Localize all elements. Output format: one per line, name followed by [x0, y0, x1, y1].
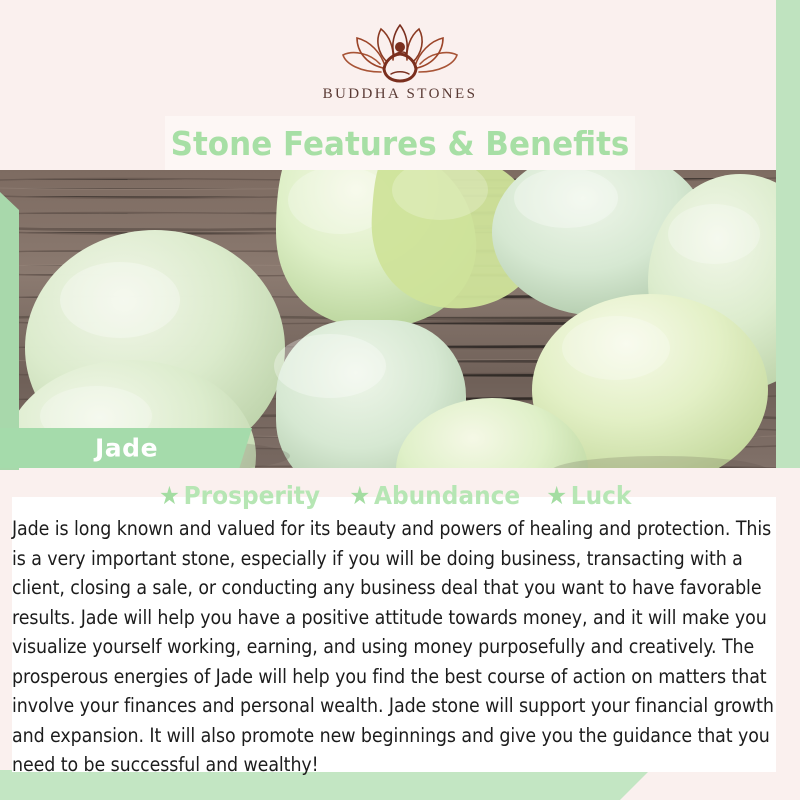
jade-stones-photo [0, 170, 776, 472]
brand-header: BUDDHA STONES [0, 0, 800, 122]
brand-name: BUDDHA STONES [323, 86, 478, 103]
title-banner: Stone Features & Benefits [165, 116, 635, 170]
benefit-label: Luck [571, 481, 632, 510]
benefit-label: Abundance [374, 481, 520, 510]
benefits-row: ★Prosperity ★Abundance ★Luck [12, 472, 776, 510]
star-icon: ★ [349, 481, 370, 510]
star-icon: ★ [546, 481, 567, 510]
page-title: Stone Features & Benefits [171, 124, 630, 163]
benefit-prosperity: ★Prosperity [159, 481, 320, 510]
content-area: ★Prosperity ★Abundance ★Luck Jade is lon… [12, 472, 776, 780]
benefit-abundance: ★Abundance [349, 481, 520, 510]
stone-description: Jade is long known and valued for its be… [12, 514, 775, 780]
stone-name-label: Jade [95, 434, 158, 463]
infographic-card: BUDDHA STONES [0, 0, 800, 800]
benefit-luck: ★Luck [546, 481, 631, 510]
lotus-meditation-icon [335, 18, 465, 84]
stone-name-banner: Jade [0, 428, 252, 468]
star-icon: ★ [159, 481, 180, 510]
benefit-label: Prosperity [184, 481, 320, 510]
